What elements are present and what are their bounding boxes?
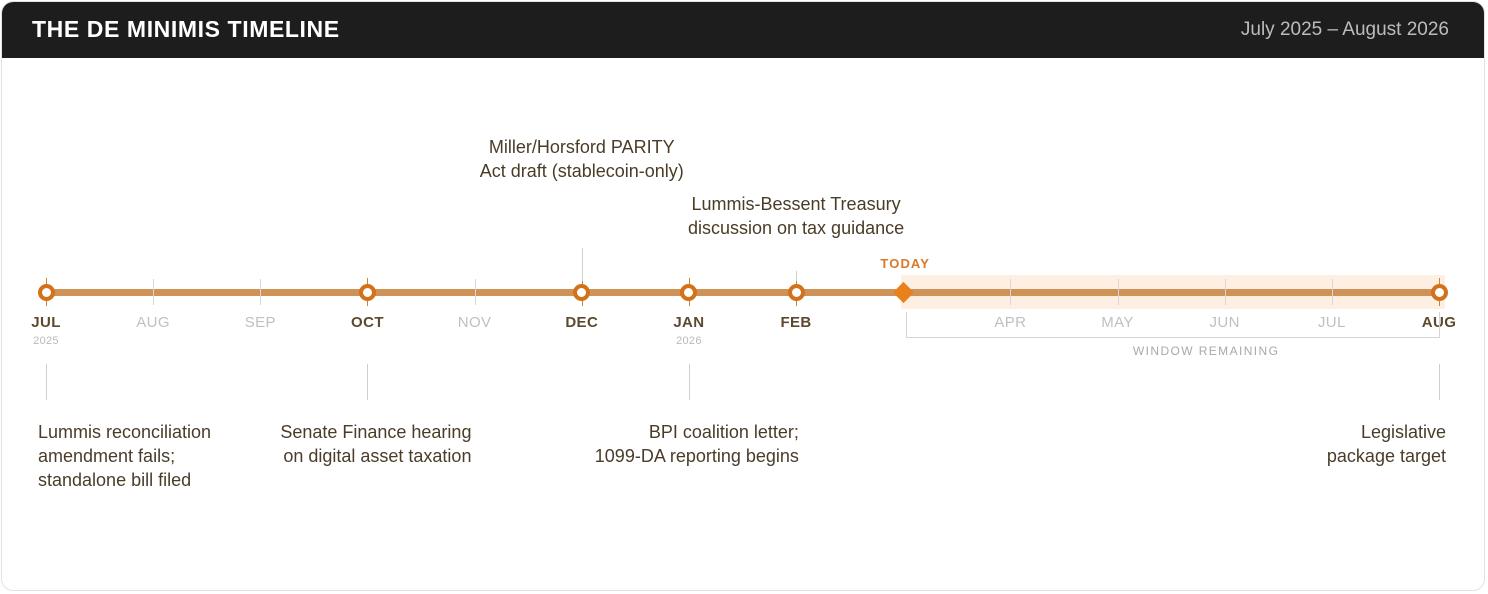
month-label: OCT (351, 314, 384, 331)
milestone-marker-oct[interactable] (359, 284, 376, 301)
timeline-plot: JUL2025AUGSEPOCTNOVDECJAN2026FEBAPRMAYJU… (2, 58, 1485, 591)
annotation-leader-line (367, 364, 368, 400)
annotation-leader-line (689, 364, 690, 400)
month-tick (1332, 279, 1333, 305)
month-label: AUG (136, 314, 170, 331)
month-label: NOV (458, 314, 492, 331)
month-year-label: 2026 (676, 335, 702, 347)
annotation-below: Legislative package target (1146, 420, 1446, 468)
annotation-leader-line (582, 248, 583, 281)
milestone-marker-jan[interactable] (680, 284, 697, 301)
month-tick (475, 279, 476, 305)
annotation-above: Miller/Horsford PARITY Act draft (stable… (332, 135, 832, 183)
annotation-leader-line (796, 271, 797, 281)
milestone-marker-aug[interactable] (1431, 284, 1448, 301)
annotation-below: BPI coalition letter; 1099-DA reporting … (499, 420, 799, 468)
today-label: TODAY (880, 256, 930, 271)
window-remaining-bracket (906, 312, 1440, 338)
timeline-axis-bar (42, 289, 1443, 296)
month-tick (260, 279, 261, 305)
month-label: JAN (673, 314, 704, 331)
month-tick (1118, 279, 1119, 305)
month-tick (1225, 279, 1226, 305)
annotation-above: Lummis-Bessent Treasury discussion on ta… (546, 192, 1046, 240)
month-label: JUL (31, 314, 61, 331)
month-label: FEB (780, 314, 811, 331)
page-title: THE DE MINIMIS TIMELINE (32, 16, 340, 43)
milestone-marker-jul[interactable] (38, 284, 55, 301)
month-tick (153, 279, 154, 305)
timeline-card: THE DE MINIMIS TIMELINE July 2025 – Augu… (1, 1, 1485, 591)
month-label: SEP (245, 314, 276, 331)
milestone-marker-dec[interactable] (573, 284, 590, 301)
annotation-below: Senate Finance hearing on digital asset … (171, 420, 471, 468)
milestone-marker-feb[interactable] (788, 284, 805, 301)
month-tick (1010, 279, 1011, 305)
header-bar: THE DE MINIMIS TIMELINE July 2025 – Augu… (2, 2, 1485, 58)
annotation-leader-line (1439, 364, 1440, 400)
window-remaining-label: WINDOW REMAINING (1133, 344, 1279, 358)
date-range-label: July 2025 – August 2026 (1241, 19, 1449, 41)
month-year-label: 2025 (33, 335, 59, 347)
month-label: DEC (565, 314, 598, 331)
annotation-leader-line (46, 364, 47, 400)
